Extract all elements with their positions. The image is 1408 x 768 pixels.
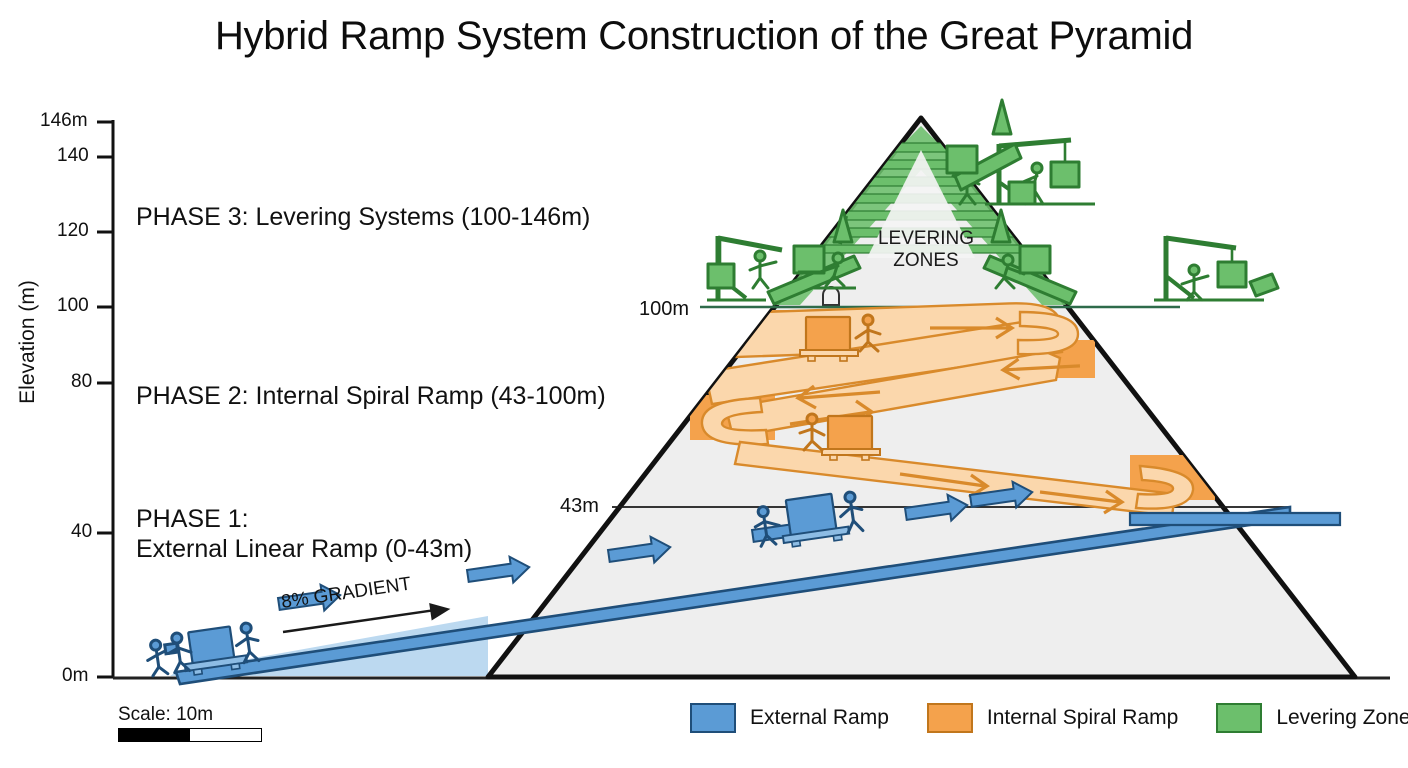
legend-item-internal-spiral-ramp[interactable]: Internal Spiral Ramp — [927, 703, 1178, 733]
legend-label-levering-zone: Levering Zone — [1276, 706, 1408, 730]
levering-zones-label: LEVERING ZONES — [856, 228, 996, 273]
ytick-80: 80 — [71, 371, 92, 393]
scale-bar-label: Scale: 10m — [118, 704, 262, 726]
ytick-40: 40 — [71, 521, 92, 543]
legend: External Ramp Internal Spiral Ramp Lever… — [690, 703, 1408, 733]
legend-swatch-internal-spiral-ramp — [927, 703, 973, 733]
ytick-146: 146m — [40, 110, 88, 132]
phase-1-label: PHASE 1: External Linear Ramp (0-43m) — [136, 505, 472, 564]
legend-item-levering-zone[interactable]: Levering Zone — [1216, 703, 1408, 733]
phase-2-label: PHASE 2: Internal Spiral Ramp (43-100m) — [136, 382, 606, 412]
external-ramp-landing — [1130, 513, 1340, 525]
diagram-canvas: Hybrid Ramp System Construction of the G… — [0, 0, 1408, 768]
ytick-100: 100 — [57, 295, 89, 317]
chamber-doorway — [823, 287, 839, 305]
reference-label-100m: 100m — [639, 298, 689, 321]
scale-bar-graphic — [118, 728, 262, 742]
reference-label-43m: 43m — [560, 495, 599, 518]
scale-bar-segment-empty — [190, 729, 261, 741]
ytick-140: 140 — [57, 145, 89, 167]
levering-rig-far-right — [1154, 236, 1278, 300]
phase-3-label: PHASE 3: Levering Systems (100-146m) — [136, 203, 590, 233]
scale-bar-segment-filled — [119, 729, 190, 741]
legend-swatch-external-ramp — [690, 703, 736, 733]
ytick-120: 120 — [57, 220, 89, 242]
legend-item-external-ramp[interactable]: External Ramp — [690, 703, 889, 733]
legend-label-external-ramp: External Ramp — [750, 706, 889, 730]
legend-swatch-levering-zone — [1216, 703, 1262, 733]
ytick-0: 0m — [62, 665, 88, 687]
scale-bar: Scale: 10m — [118, 704, 262, 742]
levering-worker-left — [750, 251, 776, 288]
y-axis — [97, 120, 113, 678]
legend-label-internal-spiral-ramp: Internal Spiral Ramp — [987, 706, 1178, 730]
